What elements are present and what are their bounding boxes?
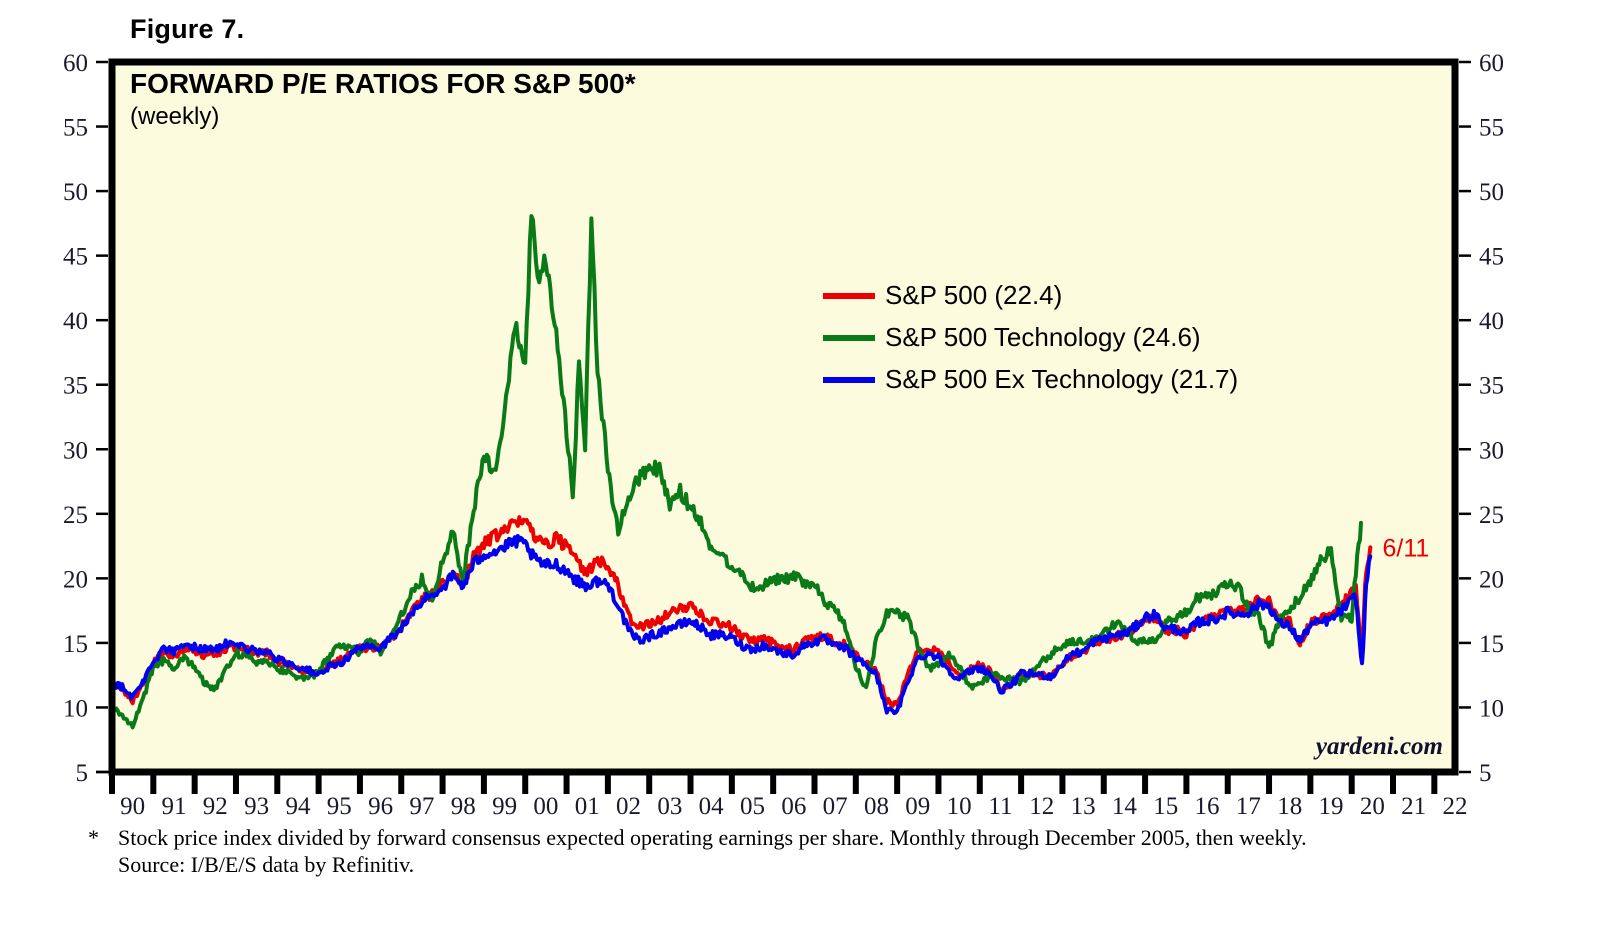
y-tick-label-right: 10 xyxy=(1479,695,1504,722)
forward-pe-chart: 5510101515202025253030353540404545505055… xyxy=(0,0,1610,941)
y-tick-label-right: 15 xyxy=(1479,631,1504,658)
legend-label-sp500-ex-technology: S&P 500 Ex Technology (21.7) xyxy=(885,364,1238,394)
x-tick-label: 06 xyxy=(781,793,806,820)
x-tick-label: 19 xyxy=(1319,793,1344,820)
x-tick-label: 95 xyxy=(327,793,352,820)
x-tick-label: 92 xyxy=(203,793,228,820)
x-tick-label: 08 xyxy=(864,793,889,820)
x-tick-label: 01 xyxy=(575,793,600,820)
y-tick-label-left: 15 xyxy=(63,631,88,658)
x-tick-label: 00 xyxy=(533,793,558,820)
y-tick-label-left: 35 xyxy=(63,373,88,400)
x-tick-label: 14 xyxy=(1112,793,1138,820)
x-tick-label: 03 xyxy=(657,793,682,820)
plot-background xyxy=(112,62,1455,772)
y-tick-label-left: 5 xyxy=(76,760,89,787)
y-tick-label-left: 20 xyxy=(63,566,88,593)
plot-subtitle: (weekly) xyxy=(130,103,219,130)
x-tick-label: 17 xyxy=(1236,793,1261,820)
x-tick-label: 98 xyxy=(451,793,476,820)
x-tick-label: 16 xyxy=(1195,793,1220,820)
x-tick-label: 93 xyxy=(244,793,269,820)
x-tick-label: 20 xyxy=(1360,793,1385,820)
y-tick-label-right: 60 xyxy=(1479,50,1504,77)
footnote-line-2: Source: I/B/E/S data by Refinitiv. xyxy=(118,852,414,877)
x-tick-label: 96 xyxy=(368,793,393,820)
x-tick-label: 02 xyxy=(616,793,641,820)
x-tick-label: 12 xyxy=(1029,793,1054,820)
chart-svg: 5510101515202025253030353540404545505055… xyxy=(0,0,1610,941)
y-tick-label-right: 45 xyxy=(1479,244,1504,271)
y-tick-label-left: 10 xyxy=(63,695,88,722)
x-tick-label: 10 xyxy=(947,793,972,820)
x-tick-label: 90 xyxy=(120,793,145,820)
x-tick-label: 09 xyxy=(905,793,930,820)
x-tick-label: 11 xyxy=(988,793,1012,820)
x-tick-label: 91 xyxy=(161,793,186,820)
y-tick-label-right: 25 xyxy=(1479,502,1504,529)
y-tick-label-right: 55 xyxy=(1479,115,1504,142)
y-tick-label-left: 40 xyxy=(63,308,88,335)
x-tick-label: 97 xyxy=(409,793,434,820)
y-tick-label-left: 25 xyxy=(63,502,88,529)
y-tick-label-left: 50 xyxy=(63,179,88,206)
y-tick-label-right: 20 xyxy=(1479,566,1504,593)
y-tick-label-left: 60 xyxy=(63,50,88,77)
legend-label-sp500-technology: S&P 500 Technology (24.6) xyxy=(885,322,1201,352)
x-tick-label: 15 xyxy=(1153,793,1178,820)
x-tick-label: 94 xyxy=(285,793,311,820)
x-tick-label: 05 xyxy=(740,793,765,820)
x-tick-label: 04 xyxy=(699,793,725,820)
watermark-yardeni: yardeni.com xyxy=(1313,733,1443,760)
y-tick-label-right: 40 xyxy=(1479,308,1504,335)
y-tick-label-left: 55 xyxy=(63,115,88,142)
y-tick-label-left: 45 xyxy=(63,244,88,271)
x-tick-label: 99 xyxy=(492,793,517,820)
footnote-line-1: Stock price index divided by forward con… xyxy=(118,825,1307,850)
y-tick-label-right: 50 xyxy=(1479,179,1504,206)
legend-label-sp500: S&P 500 (22.4) xyxy=(885,280,1062,310)
x-tick-label: 22 xyxy=(1443,793,1468,820)
x-tick-label: 13 xyxy=(1071,793,1096,820)
latest-value-annotation: 6/11 xyxy=(1382,534,1429,562)
footnote-marker: * xyxy=(88,825,99,850)
plot-title: FORWARD P/E RATIOS FOR S&P 500* xyxy=(130,68,636,99)
x-tick-label: 21 xyxy=(1401,793,1426,820)
y-tick-label-right: 30 xyxy=(1479,437,1504,464)
y-tick-label-right: 5 xyxy=(1479,760,1492,787)
y-tick-label-right: 35 xyxy=(1479,373,1504,400)
x-tick-label: 18 xyxy=(1277,793,1302,820)
y-tick-label-left: 30 xyxy=(63,437,88,464)
x-tick-label: 07 xyxy=(823,793,848,820)
